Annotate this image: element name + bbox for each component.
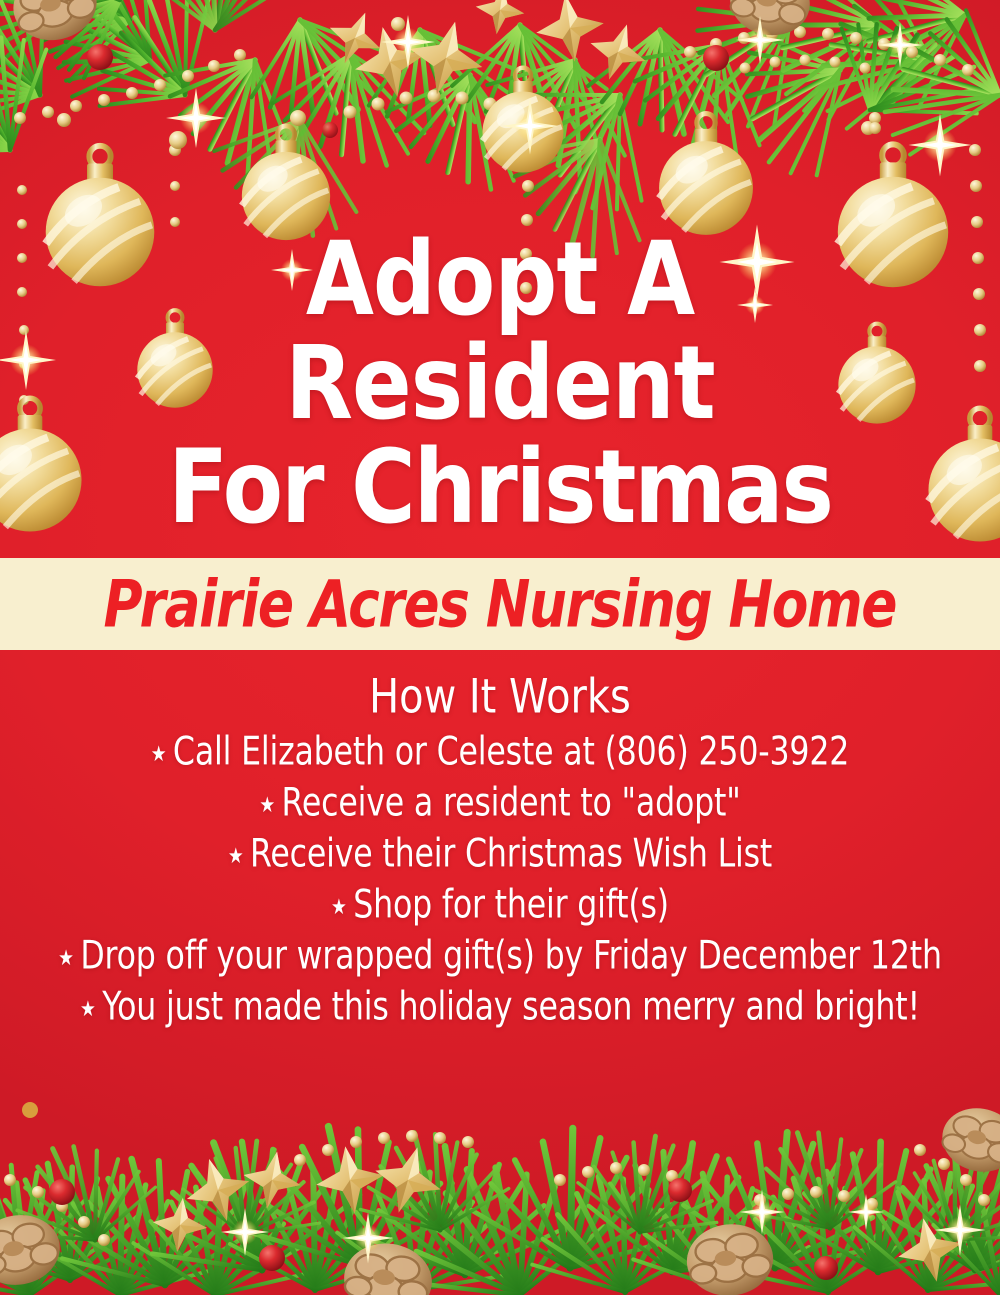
red-berry bbox=[703, 45, 729, 71]
red-berry bbox=[49, 1179, 75, 1205]
christmas-flyer: Adopt A Resident For Christmas Prairie A… bbox=[0, 0, 1000, 1295]
star-bullet-icon: ★ bbox=[151, 744, 167, 766]
star-bullet-icon: ★ bbox=[80, 999, 96, 1021]
title-line-2: Resident bbox=[0, 332, 1000, 434]
gold-star bbox=[532, 0, 609, 66]
red-berry bbox=[814, 1256, 838, 1280]
instruction-item: ★You just made this holiday season merry… bbox=[35, 988, 965, 1027]
red-berry bbox=[259, 1245, 285, 1271]
gold-striped-ornament bbox=[659, 114, 753, 235]
instruction-text: Shop for their gift(s) bbox=[353, 882, 669, 928]
sparkle bbox=[909, 114, 972, 177]
instruction-item: ★Receive a resident to "adopt" bbox=[35, 784, 965, 823]
red-berry bbox=[668, 1178, 692, 1202]
red-berry bbox=[87, 44, 113, 70]
instruction-text: Receive their Christmas Wish List bbox=[250, 831, 772, 877]
instruction-item: ★Drop off your wrapped gift(s) by Friday… bbox=[35, 937, 965, 976]
how-it-works-section: How It Works ★Call Elizabeth or Celeste … bbox=[0, 672, 1000, 1041]
star-bullet-icon: ★ bbox=[259, 795, 275, 817]
star-bullet-icon: ★ bbox=[331, 897, 347, 919]
red-berry bbox=[322, 122, 338, 138]
christmas-pine-garland-bottom bbox=[0, 1100, 1000, 1295]
organization-banner: Prairie Acres Nursing Home bbox=[0, 558, 1000, 650]
title-line-3: For Christmas bbox=[0, 436, 1000, 538]
title-line-1: Adopt A bbox=[0, 228, 1000, 330]
instruction-text: Drop off your wrapped gift(s) by Friday … bbox=[80, 933, 941, 979]
organization-name: Prairie Acres Nursing Home bbox=[104, 572, 897, 637]
flyer-title: Adopt A Resident For Christmas bbox=[0, 228, 1000, 524]
star-bullet-icon: ★ bbox=[228, 846, 244, 868]
instruction-item: ★Call Elizabeth or Celeste at (806) 250-… bbox=[35, 733, 965, 772]
instruction-text: You just made this holiday season merry … bbox=[102, 984, 920, 1030]
star-bullet-icon: ★ bbox=[58, 948, 74, 970]
instruction-list: ★Call Elizabeth or Celeste at (806) 250-… bbox=[0, 735, 1000, 1024]
how-it-works-heading: How It Works bbox=[25, 669, 975, 724]
instruction-text: Receive a resident to "adopt" bbox=[282, 780, 741, 826]
instruction-text: Call Elizabeth or Celeste at (806) 250-3… bbox=[173, 729, 849, 775]
red-berry bbox=[22, 1102, 38, 1118]
instruction-item: ★Receive their Christmas Wish List bbox=[35, 835, 965, 874]
instruction-item: ★Shop for their gift(s) bbox=[35, 886, 965, 925]
